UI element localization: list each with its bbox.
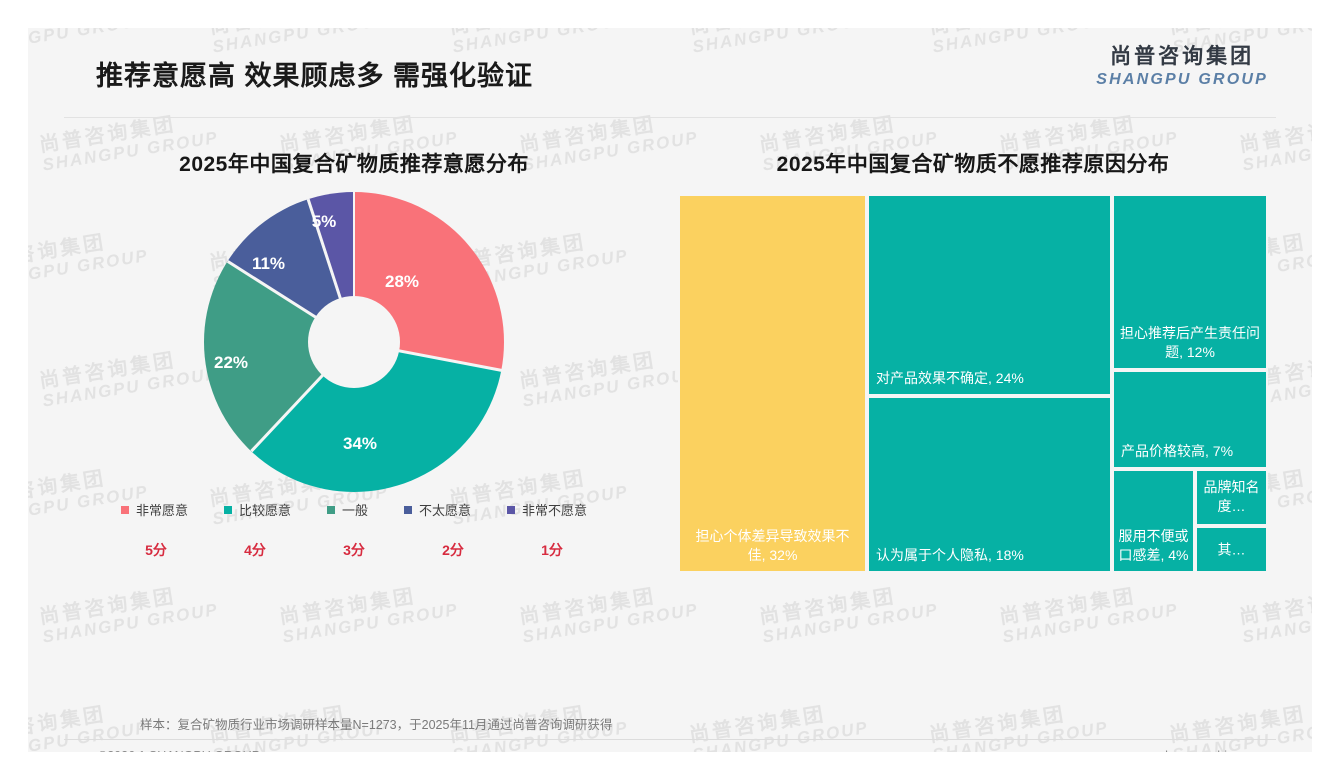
watermark-text: 尚普咨询集团SHANGPU GROUP (518, 580, 700, 647)
header-divider (64, 117, 1276, 118)
legend-swatch-icon (404, 506, 412, 514)
treemap-label-1: 对产品效果不确定, 24% (876, 369, 1103, 388)
logo-english: SHANGPU GROUP (1096, 72, 1268, 88)
legend-label: 不太愿意 (419, 500, 471, 519)
watermark-text: 尚普咨询集团SHANGPU GROUP (1238, 580, 1312, 647)
panel-refusal-reasons: 2025年中国复合矿物质不愿推荐原因分布 担心个体差异导致效果不佳, 32% 对… (666, 148, 1280, 568)
legend-swatch-icon (507, 506, 515, 514)
legend-label: 比较愿意 (239, 500, 291, 519)
treemap-cell-3[interactable]: 担心推荐后产生责任问题, 12% (1112, 194, 1268, 370)
donut-label-2: 22% (214, 353, 248, 373)
sample-footnote: 样本：复合矿物质行业市场调研样本量N=1273，于2025年11月通过尚普咨询调… (140, 714, 612, 733)
treemap-cell-2[interactable]: 认为属于个人隐私, 18% (867, 396, 1112, 573)
footer-website[interactable]: www.shangpu-china.com (1129, 749, 1268, 752)
legend-swatch-icon (121, 506, 129, 514)
legend-item-3[interactable]: 不太愿意 (404, 500, 471, 519)
donut-center-hole (308, 296, 400, 388)
slide-canvas: 尚普咨询集团SHANGPU GROUP尚普咨询集团SHANGPU GROUP尚普… (28, 28, 1312, 752)
treemap-cell-6[interactable]: 品牌知名度… (1195, 469, 1268, 526)
watermark-text: 尚普咨询集团SHANGPU GROUP (278, 580, 460, 647)
legend-item-2[interactable]: 一般 (327, 500, 368, 519)
footer-divider (64, 739, 1276, 740)
donut-label-4: 5% (312, 212, 337, 232)
legend-item-1[interactable]: 比较愿意 (224, 500, 291, 519)
legend-label: 非常不愿意 (522, 500, 587, 519)
legend-label: 一般 (342, 500, 368, 519)
score-label-4: 1分 (534, 540, 570, 560)
score-row: 5分4分3分2分1分 (64, 540, 644, 560)
slide-header: 推荐意愿高 效果顾虑多 需强化验证 尚普咨询集团 SHANGPU GROUP (28, 28, 1312, 118)
legend-swatch-icon (224, 506, 232, 514)
treemap-label-4: 产品价格较高, 7% (1121, 442, 1259, 461)
donut-label-3: 11% (252, 254, 285, 274)
donut-legend: 非常愿意比较愿意一般不太愿意非常不愿意 (64, 500, 644, 519)
page-title: 推荐意愿高 效果顾虑多 需强化验证 (96, 54, 533, 93)
watermark-text: 尚普咨询集团SHANGPU GROUP (38, 580, 220, 647)
treemap-chart: 担心个体差异导致效果不佳, 32% 对产品效果不确定, 24% 认为属于个人隐私… (678, 194, 1268, 573)
watermark-text: 尚普咨询集团SHANGPU GROUP (688, 698, 870, 752)
legend-item-0[interactable]: 非常愿意 (121, 500, 188, 519)
treemap-cell-0[interactable]: 担心个体差异导致效果不佳, 32% (678, 194, 867, 573)
legend-item-4[interactable]: 非常不愿意 (507, 500, 587, 519)
score-label-1: 4分 (237, 540, 273, 560)
right-chart-title: 2025年中国复合矿物质不愿推荐原因分布 (666, 148, 1280, 178)
treemap-label-7: 其… (1201, 540, 1262, 559)
left-chart-title: 2025年中国复合矿物质推荐意愿分布 (64, 148, 644, 178)
watermark-text: 尚普咨询集团SHANGPU GROUP (928, 698, 1110, 752)
treemap-cell-5[interactable]: 服用不便或口感差, 4% (1112, 469, 1195, 573)
treemap-label-5: 服用不便或口感差, 4% (1118, 527, 1189, 565)
treemap-cell-1[interactable]: 对产品效果不确定, 24% (867, 194, 1112, 396)
brand-logo: 尚普咨询集团 SHANGPU GROUP (1096, 46, 1268, 88)
donut-label-0: 28% (385, 272, 419, 292)
score-label-2: 3分 (336, 540, 372, 560)
watermark-text: 尚普咨询集团SHANGPU GROUP (758, 580, 940, 647)
watermark-text: 尚普咨询集团SHANGPU GROUP (998, 580, 1180, 647)
watermark-text: 尚普咨询集团SHANGPU GROUP (28, 698, 150, 752)
panel-recommend-willingness: 2025年中国复合矿物质推荐意愿分布 28% 34% 22% 11% 5% 非常… (64, 148, 644, 478)
footer-copyright: ©2026.1 SHANGPU GROUP (98, 749, 260, 752)
logo-chinese: 尚普咨询集团 (1096, 46, 1268, 67)
score-label-3: 2分 (435, 540, 471, 560)
donut-chart: 28% 34% 22% 11% 5% (204, 192, 504, 492)
treemap-cell-4[interactable]: 产品价格较高, 7% (1112, 370, 1268, 469)
donut-label-1: 34% (343, 434, 377, 454)
legend-label: 非常愿意 (136, 500, 188, 519)
watermark-text: 尚普咨询集团SHANGPU GROUP (1168, 698, 1312, 752)
treemap-label-6: 品牌知名度… (1201, 478, 1262, 516)
treemap-label-0: 担心个体差异导致效果不佳, 32% (687, 527, 858, 565)
score-label-0: 5分 (138, 540, 174, 560)
treemap-label-3: 担心推荐后产生责任问题, 12% (1118, 324, 1262, 362)
treemap-label-2: 认为属于个人隐私, 18% (876, 546, 1103, 565)
treemap-cell-7[interactable]: 其… (1195, 526, 1268, 573)
legend-swatch-icon (327, 506, 335, 514)
